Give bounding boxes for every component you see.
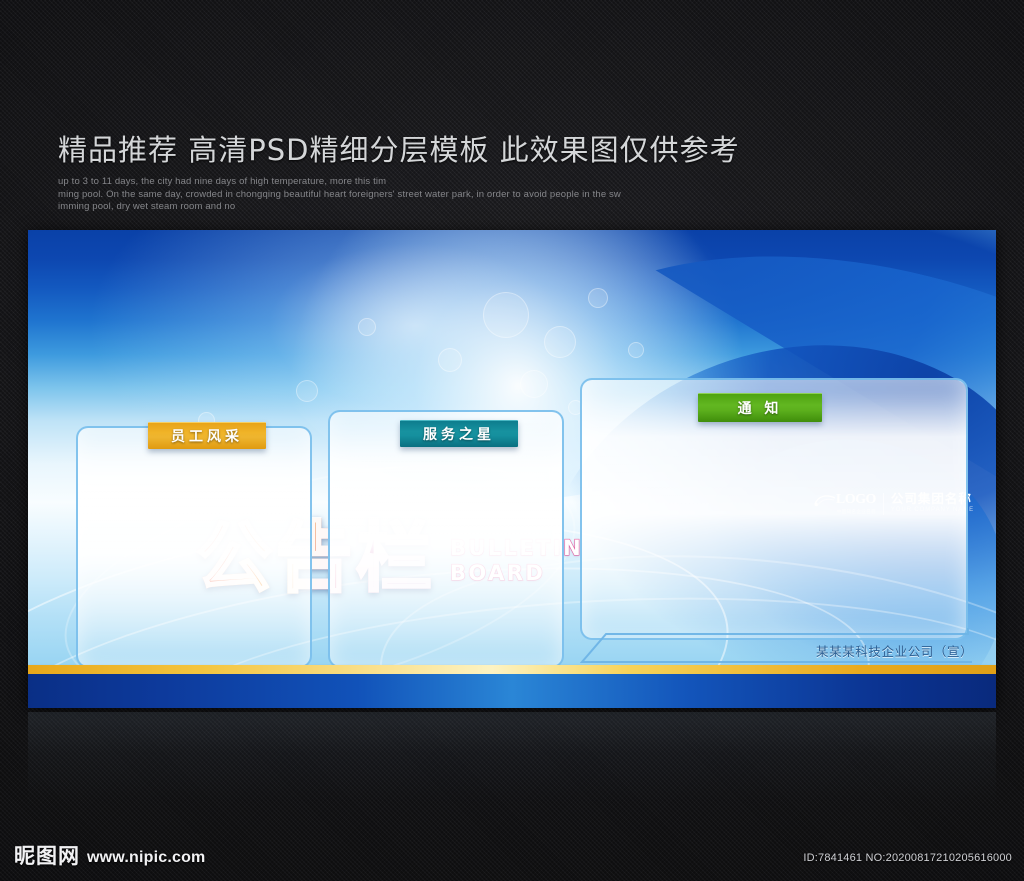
bulletin-board-artwork: LOGO 中国知名企业名称 公司集团名称 YOUR COMPANY NAME 公… xyxy=(28,230,996,708)
panel-tab-service-star[interactable]: 服务之星 xyxy=(400,420,518,447)
gold-stripe xyxy=(28,665,996,674)
header-subtext-line: ming pool. On the same day, crowded in c… xyxy=(58,189,958,202)
company-tag-banner: 某某某科技企业公司（宣） xyxy=(580,628,972,668)
bottom-blue-band xyxy=(28,674,996,708)
asset-id-text: ID:7841461 NO:20200817210205616000 xyxy=(803,852,1012,864)
poster-preview-page: 精品推荐 高清PSD精细分层模板 此效果图仅供参考 up to 3 to 11 … xyxy=(0,0,1024,881)
content-panel-service-star[interactable] xyxy=(328,410,564,668)
panel-tab-notice[interactable]: 通 知 xyxy=(698,393,822,422)
header-subtext-line: imming pool, dry wet steam room and no xyxy=(58,201,958,214)
page-title: 精品推荐 高清PSD精细分层模板 此效果图仅供参考 xyxy=(58,132,958,168)
site-branding[interactable]: 昵图网 www.nipic.com xyxy=(14,845,205,867)
panel-tab-employee[interactable]: 员工风采 xyxy=(148,422,266,449)
content-panels: 员工风采 服务之星 通 知 某某某科技企业公司（宣） xyxy=(28,230,996,708)
site-brand-url: www.nipic.com xyxy=(87,849,205,867)
site-brand-cn: 昵图网 xyxy=(14,845,80,867)
header-subtext: up to 3 to 11 days, the city had nine da… xyxy=(58,176,958,214)
header-subtext-line: up to 3 to 11 days, the city had nine da… xyxy=(58,176,958,189)
company-tag-text: 某某某科技企业公司（宣） xyxy=(816,641,973,660)
content-panel-employee[interactable] xyxy=(76,426,312,668)
header-block: 精品推荐 高清PSD精细分层模板 此效果图仅供参考 up to 3 to 11 … xyxy=(58,132,958,214)
